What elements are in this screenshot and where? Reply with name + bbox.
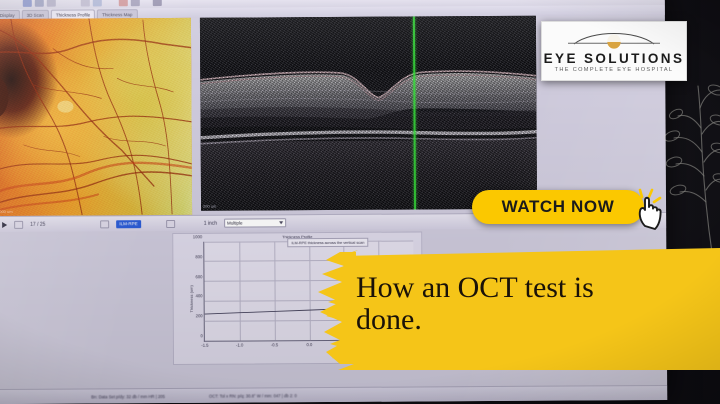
status-right-text: OCT: Tol x RN: p/q: 30.8° W / mm: 047 | … (209, 393, 297, 399)
bscan-scale-stamp: 200 um (203, 204, 216, 209)
frame-readout: 17 / 25 (30, 221, 45, 227)
status-left-text: Bn: Data Set p/dy: 32 db / mm HR | 205 (91, 394, 165, 399)
title-banner: How an OCT test is done. (318, 248, 720, 370)
ruler-icon[interactable] (166, 219, 175, 227)
title-line-1: How an OCT test is (356, 272, 696, 304)
y-tick: 1000 (193, 234, 202, 239)
oct-b-scan[interactable]: 200 um (200, 16, 537, 211)
y-tick: 800 (195, 254, 202, 259)
step-frame-icon[interactable] (14, 220, 23, 228)
unit-label: 1 inch (204, 220, 217, 226)
measure-icon[interactable] (119, 0, 128, 6)
eye-arc-logo-icon (566, 30, 662, 50)
chart-y-axis-label: Thickness (um) (189, 285, 194, 312)
fundus-grain (0, 18, 192, 216)
title-line-2: done. (356, 304, 696, 336)
y-tick: 200 (196, 313, 203, 318)
tab-thickness-profile[interactable]: Thickness Profile (51, 9, 95, 18)
tab-display[interactable]: Display (0, 10, 20, 19)
y-tick: 400 (196, 294, 203, 299)
speckle-noise (200, 16, 537, 211)
tab-3d-scan[interactable]: 3D Scan (22, 10, 49, 19)
thumbnail-stage: Display 3D Scan Thickness Profile Thickn… (0, 0, 720, 404)
watch-now-button[interactable]: WATCH NOW (472, 190, 644, 224)
save-icon[interactable] (35, 0, 44, 7)
settings-icon[interactable] (153, 0, 162, 6)
display-mode-select[interactable]: Multiple (224, 218, 286, 227)
layer-selection-label[interactable]: ILM-RPE (116, 220, 140, 228)
pointing-hand-cursor-icon (628, 186, 672, 232)
brand-name: EYE SOLUTIONS (544, 51, 685, 66)
export-icon[interactable] (131, 0, 140, 6)
fundus-photograph[interactable]: 1000 um (0, 18, 192, 216)
chart-legend: ILM-RPE thickness across the vertical sc… (287, 238, 368, 247)
fundus-scale-stamp: 1000 um (0, 209, 13, 214)
brand-tagline: THE COMPLETE EYE HOSPITAL (555, 67, 674, 73)
page-title: How an OCT test is done. (356, 272, 696, 337)
y-tick: 600 (195, 274, 202, 279)
open-icon[interactable] (23, 0, 32, 7)
chevron-down-icon[interactable] (279, 221, 283, 224)
layer-stack-icon[interactable] (100, 220, 109, 228)
brand-logo-card: EYE SOLUTIONS THE COMPLETE EYE HOSPITAL (541, 21, 687, 81)
x-tick: -1.5 (201, 343, 208, 348)
zoom-out-icon[interactable] (93, 0, 102, 6)
x-tick: -0.5 (271, 342, 278, 347)
play-icon[interactable] (2, 221, 7, 227)
display-mode-value: Multiple (227, 221, 243, 226)
watch-now-label: WATCH NOW (502, 197, 615, 217)
x-tick: -1.0 (236, 343, 243, 348)
y-tick: 0 (200, 333, 202, 338)
zoom-in-icon[interactable] (81, 0, 90, 7)
print-icon[interactable] (47, 0, 56, 7)
tab-thickness-map[interactable]: Thickness Map (97, 9, 137, 18)
